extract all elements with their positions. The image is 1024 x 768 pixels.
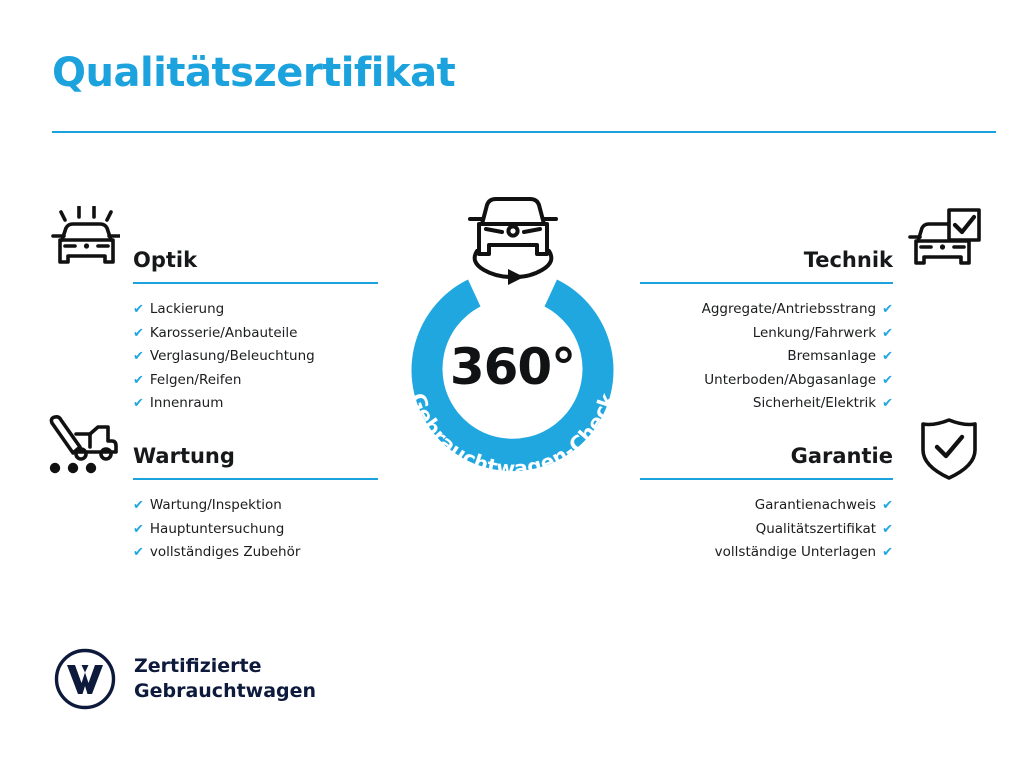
- list-item: ✔Verglasung/Beleuchtung: [133, 345, 378, 369]
- check-icon: ✔: [882, 373, 893, 388]
- section-wartung-header: Wartung: [133, 428, 378, 480]
- section-technik: Technik Aggregate/Antriebsstrang✔ Lenkun…: [640, 232, 893, 416]
- volkswagen-logo: [54, 648, 116, 710]
- car-front-checkbox-icon: [908, 206, 982, 276]
- list-item-label: vollständiges Zubehör: [150, 544, 300, 560]
- list-item-label: Sicherheit/Elektrik: [753, 395, 876, 411]
- section-technik-list: Aggregate/Antriebsstrang✔ Lenkung/Fahrwe…: [640, 298, 893, 416]
- badge-360-gebrauchtwagen-check: Gebrauchtwagen-Check 360°: [375, 260, 650, 480]
- section-wartung-divider: [133, 478, 378, 480]
- list-item-label: Qualitätszertifikat: [756, 521, 877, 537]
- section-optik-divider: [133, 282, 378, 284]
- title-divider: [52, 131, 996, 133]
- list-item-label: Hauptuntersuchung: [150, 521, 284, 537]
- list-item-label: Garantienachweis: [755, 497, 876, 513]
- list-item: Lenkung/Fahrwerk✔: [640, 322, 893, 346]
- list-item: Garantienachweis✔: [640, 494, 893, 518]
- list-item: Sicherheit/Elektrik✔: [640, 392, 893, 416]
- section-garantie: Garantie Garantienachweis✔ Qualitätszert…: [640, 428, 893, 565]
- brand-line-2: Gebrauchtwagen: [134, 679, 316, 704]
- check-icon: ✔: [133, 302, 144, 317]
- check-icon: ✔: [133, 349, 144, 364]
- check-icon: ✔: [133, 522, 144, 537]
- badge-value: 360°: [375, 338, 650, 396]
- list-item-label: Wartung/Inspektion: [150, 497, 282, 513]
- wrench-car-oil-icon: [46, 414, 120, 484]
- page-title: Qualitätszertifikat: [52, 50, 455, 96]
- check-icon: ✔: [882, 545, 893, 560]
- section-technik-title: Technik: [804, 248, 893, 272]
- list-item-label: Lenkung/Fahrwerk: [753, 325, 876, 341]
- list-item-label: Innenraum: [150, 395, 224, 411]
- car-front-rotate-icon: [458, 188, 568, 286]
- check-icon: ✔: [882, 302, 893, 317]
- check-icon: ✔: [882, 349, 893, 364]
- list-item: ✔Hauptuntersuchung: [133, 518, 378, 542]
- list-item: Aggregate/Antriebsstrang✔: [640, 298, 893, 322]
- section-garantie-list: Garantienachweis✔ Qualitätszertifikat✔ v…: [640, 494, 893, 565]
- list-item: Qualitätszertifikat✔: [640, 518, 893, 542]
- section-wartung-title: Wartung: [133, 444, 235, 468]
- check-icon: ✔: [882, 396, 893, 411]
- list-item-label: Lackierung: [150, 301, 224, 317]
- section-wartung: Wartung ✔Wartung/Inspektion ✔Hauptunters…: [133, 428, 378, 565]
- list-item: ✔Karosserie/Anbauteile: [133, 322, 378, 346]
- check-icon: ✔: [882, 522, 893, 537]
- shield-check-icon: [912, 414, 986, 484]
- check-icon: ✔: [133, 545, 144, 560]
- list-item: ✔Felgen/Reifen: [133, 369, 378, 393]
- section-optik-header: Optik: [133, 232, 378, 284]
- list-item-label: Unterboden/Abgasanlage: [704, 372, 876, 388]
- check-icon: ✔: [133, 326, 144, 341]
- list-item-label: Felgen/Reifen: [150, 372, 242, 388]
- list-item: vollständige Unterlagen✔: [640, 541, 893, 565]
- section-optik-title: Optik: [133, 248, 197, 272]
- brand-lockup: Zertifizierte Gebrauchtwagen: [54, 648, 316, 710]
- section-garantie-divider: [640, 478, 893, 480]
- list-item-label: Karosserie/Anbauteile: [150, 325, 298, 341]
- list-item: ✔vollständiges Zubehör: [133, 541, 378, 565]
- section-optik: Optik ✔Lackierung ✔Karosserie/Anbauteile…: [133, 232, 378, 416]
- section-technik-header: Technik: [640, 232, 893, 284]
- list-item-label: Verglasung/Beleuchtung: [150, 348, 315, 364]
- brand-text: Zertifizierte Gebrauchtwagen: [134, 654, 316, 704]
- car-front-shine-icon: [46, 206, 120, 276]
- brand-line-1: Zertifizierte: [134, 654, 316, 679]
- check-icon: ✔: [133, 498, 144, 513]
- check-icon: ✔: [133, 396, 144, 411]
- section-garantie-title: Garantie: [791, 444, 893, 468]
- section-wartung-list: ✔Wartung/Inspektion ✔Hauptuntersuchung ✔…: [133, 494, 378, 565]
- section-optik-list: ✔Lackierung ✔Karosserie/Anbauteile ✔Verg…: [133, 298, 378, 416]
- list-item: ✔Innenraum: [133, 392, 378, 416]
- section-technik-divider: [640, 282, 893, 284]
- check-icon: ✔: [882, 498, 893, 513]
- list-item: Unterboden/Abgasanlage✔: [640, 369, 893, 393]
- list-item: ✔Lackierung: [133, 298, 378, 322]
- list-item-label: Bremsanlage: [787, 348, 876, 364]
- list-item-label: Aggregate/Antriebsstrang: [702, 301, 877, 317]
- section-garantie-header: Garantie: [640, 428, 893, 480]
- list-item-label: vollständige Unterlagen: [715, 544, 876, 560]
- list-item: ✔Wartung/Inspektion: [133, 494, 378, 518]
- check-icon: ✔: [133, 373, 144, 388]
- check-icon: ✔: [882, 326, 893, 341]
- list-item: Bremsanlage✔: [640, 345, 893, 369]
